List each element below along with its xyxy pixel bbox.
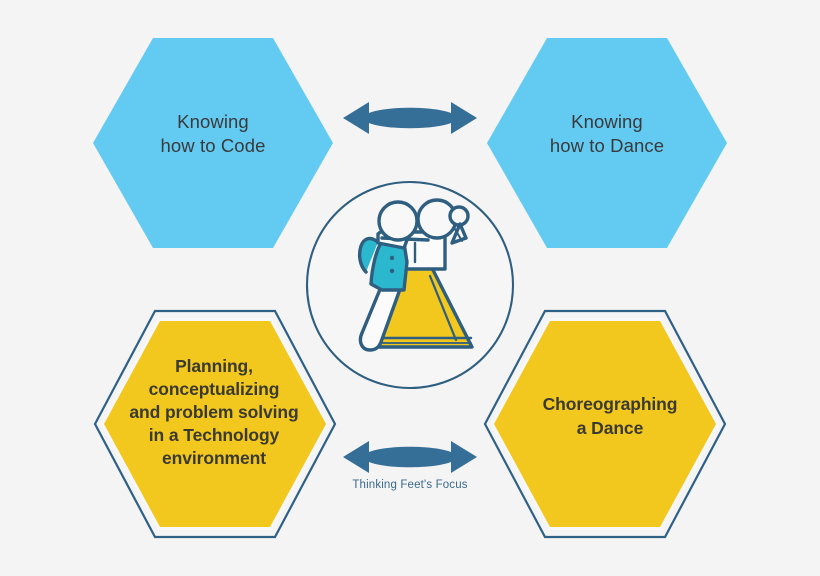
bottom-bidirectional-arrow-icon xyxy=(343,441,477,473)
hexagon-choreographing-a-dance[interactable] xyxy=(485,311,725,537)
hexagon-planning-fill xyxy=(104,321,326,527)
arrow-caption-thinking-feets-focus: Thinking Feet's Focus xyxy=(310,479,510,491)
hexagon-planning-conceptualizing[interactable] xyxy=(95,311,335,537)
hexagon-knowing-how-to-code[interactable] xyxy=(93,38,333,248)
hexagon-choreo-fill xyxy=(494,321,716,527)
top-bidirectional-arrow-icon xyxy=(343,102,477,134)
hexagon-knowing-how-to-dance[interactable] xyxy=(487,38,727,248)
diagram-canvas: Knowing how to Code Knowing how to Dance… xyxy=(0,0,820,576)
